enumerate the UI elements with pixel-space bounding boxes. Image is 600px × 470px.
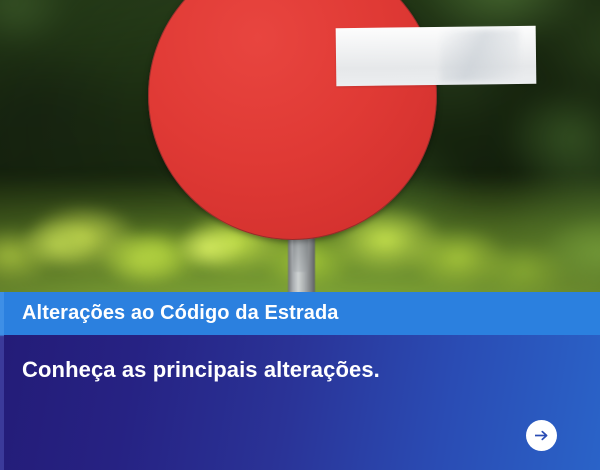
hero-photo — [0, 0, 600, 292]
banner-body-panel: Conheça as principais alterações. — [0, 335, 600, 470]
page-title: Alterações ao Código da Estrada — [0, 302, 339, 325]
banner-subtitle: Conheça as principais alterações. — [22, 357, 380, 383]
no-entry-sign-bar — [336, 26, 537, 86]
banner-title-bar: Alterações ao Código da Estrada — [0, 292, 600, 335]
left-accent-edge — [0, 292, 4, 470]
cta-arrow-button[interactable] — [526, 420, 557, 451]
promo-banner: Alterações ao Código da Estrada Conheça … — [0, 0, 600, 470]
arrow-right-icon — [532, 426, 551, 445]
